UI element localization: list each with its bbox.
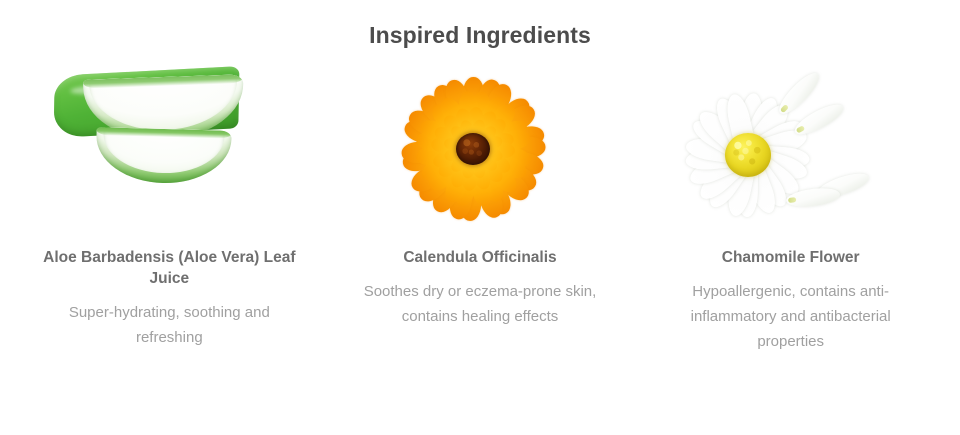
chamomile-flower-image bbox=[676, 71, 906, 231]
calendula-bloom bbox=[398, 74, 548, 224]
ingredient-title: Calendula Officinalis bbox=[403, 247, 556, 268]
aloe-illustration bbox=[54, 71, 284, 231]
calendula-flower-center bbox=[456, 133, 490, 165]
chamomile-illustration bbox=[676, 71, 906, 231]
ingredient-card-aloe-vera: Aloe Barbadensis (Aloe Vera) Leaf Juice … bbox=[14, 71, 325, 350]
ingredient-description: Super-hydrating, soothing and refreshing bbox=[50, 300, 288, 350]
calendula-illustration bbox=[365, 71, 595, 231]
ingredient-title: Aloe Barbadensis (Aloe Vera) Leaf Juice bbox=[29, 247, 309, 289]
ingredient-card-list: Aloe Barbadensis (Aloe Vera) Leaf Juice … bbox=[0, 71, 960, 354]
ingredient-description: Soothes dry or eczema-prone skin, contai… bbox=[354, 279, 606, 329]
aloe-middle-slice-shape bbox=[96, 127, 232, 185]
ingredient-card-chamomile: Chamomile Flower Hypoallergenic, contain… bbox=[635, 71, 946, 354]
calendula-flower-image bbox=[365, 71, 595, 231]
ingredients-section: Inspired Ingredients Aloe Barbadensis (A… bbox=[0, 0, 960, 435]
ingredient-card-calendula: Calendula Officinalis Soothes dry or ecz… bbox=[325, 71, 636, 329]
aloe-vera-slices-image bbox=[54, 71, 284, 231]
page-title: Inspired Ingredients bbox=[0, 0, 960, 49]
chamomile-flower-center bbox=[725, 133, 771, 177]
ingredient-title: Chamomile Flower bbox=[722, 247, 860, 268]
ingredient-description: Hypoallergenic, contains anti-inflammato… bbox=[667, 279, 915, 354]
